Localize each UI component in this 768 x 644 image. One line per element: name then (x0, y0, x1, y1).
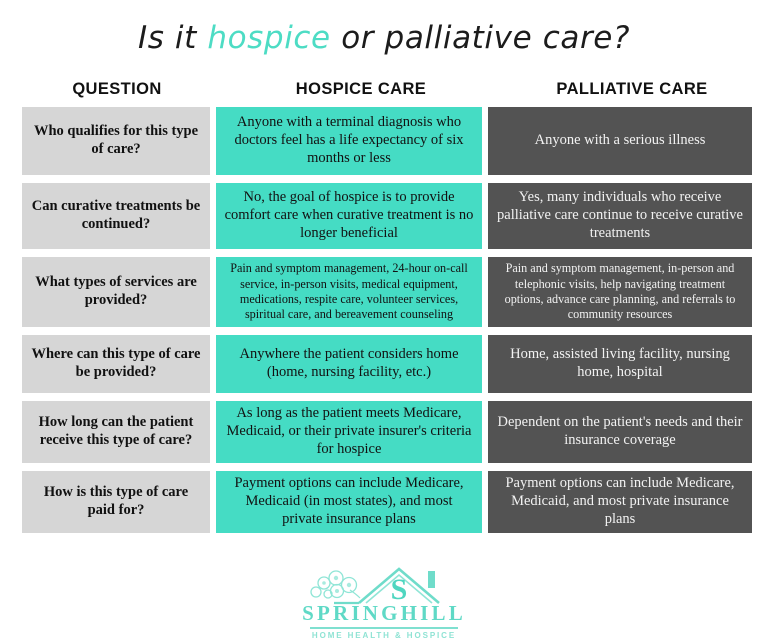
page-title: Is it hospice or palliative care? (138, 20, 630, 56)
comparison-table: Who qualifies for this type of care? Any… (0, 107, 768, 533)
footer-logo: S SPRINGHILL HOME HEALTH & HOSPICE (0, 563, 768, 640)
palliative-cell: Yes, many individuals who receive pallia… (488, 183, 752, 249)
hospice-cell: Payment options can include Medicare, Me… (216, 471, 482, 533)
logo-tagline: HOME HEALTH & HOSPICE (312, 632, 456, 640)
palliative-cell: Anyone with a serious illness (488, 107, 752, 175)
column-header-question: QUESTION (12, 80, 222, 99)
table-row: Who qualifies for this type of care? Any… (0, 107, 768, 175)
table-row: What types of services are provided? Pai… (0, 257, 768, 327)
hospice-cell: No, the goal of hospice is to provide co… (216, 183, 482, 249)
hospice-cell: Pain and symptom management, 24-hour on-… (216, 257, 482, 327)
palliative-cell: Dependent on the patient's needs and the… (488, 401, 752, 463)
table-row: Can curative treatments be continued? No… (0, 183, 768, 249)
question-cell: Who qualifies for this type of care? (22, 107, 210, 175)
hospice-cell: Anyone with a terminal diagnosis who doc… (216, 107, 482, 175)
title-text-highlight: hospice (207, 20, 330, 56)
question-cell: Where can this type of care be provided? (22, 335, 210, 393)
table-row: How is this type of care paid for? Payme… (0, 471, 768, 533)
hospice-cell: As long as the patient meets Medicare, M… (216, 401, 482, 463)
hospice-cell: Anywhere the patient considers home (hom… (216, 335, 482, 393)
question-cell: How is this type of care paid for? (22, 471, 210, 533)
question-cell: What types of services are provided? (22, 257, 210, 327)
palliative-cell: Home, assisted living facility, nursing … (488, 335, 752, 393)
table-row: Where can this type of care be provided?… (0, 335, 768, 393)
palliative-cell: Pain and symptom management, in-person a… (488, 257, 752, 327)
column-header-palliative-care: PALLIATIVE CARE (500, 80, 764, 99)
title-bar: Is it hospice or palliative care? (0, 0, 768, 76)
logo-wordmark: SPRINGHILL (302, 603, 466, 624)
title-text-after: or palliative care? (331, 20, 630, 56)
column-header-hospice-care: HOSPICE CARE (228, 80, 494, 99)
table-header-row: QUESTION HOSPICE CARE PALLIATIVE CARE (0, 80, 768, 99)
question-cell: Can curative treatments be continued? (22, 183, 210, 249)
question-cell: How long can the patient receive this ty… (22, 401, 210, 463)
logo-divider (310, 627, 458, 629)
title-text-before: Is it (138, 20, 207, 56)
springhill-house-icon: S (304, 563, 464, 605)
table-row: How long can the patient receive this ty… (0, 401, 768, 463)
palliative-cell: Payment options can include Medicare, Me… (488, 471, 752, 533)
